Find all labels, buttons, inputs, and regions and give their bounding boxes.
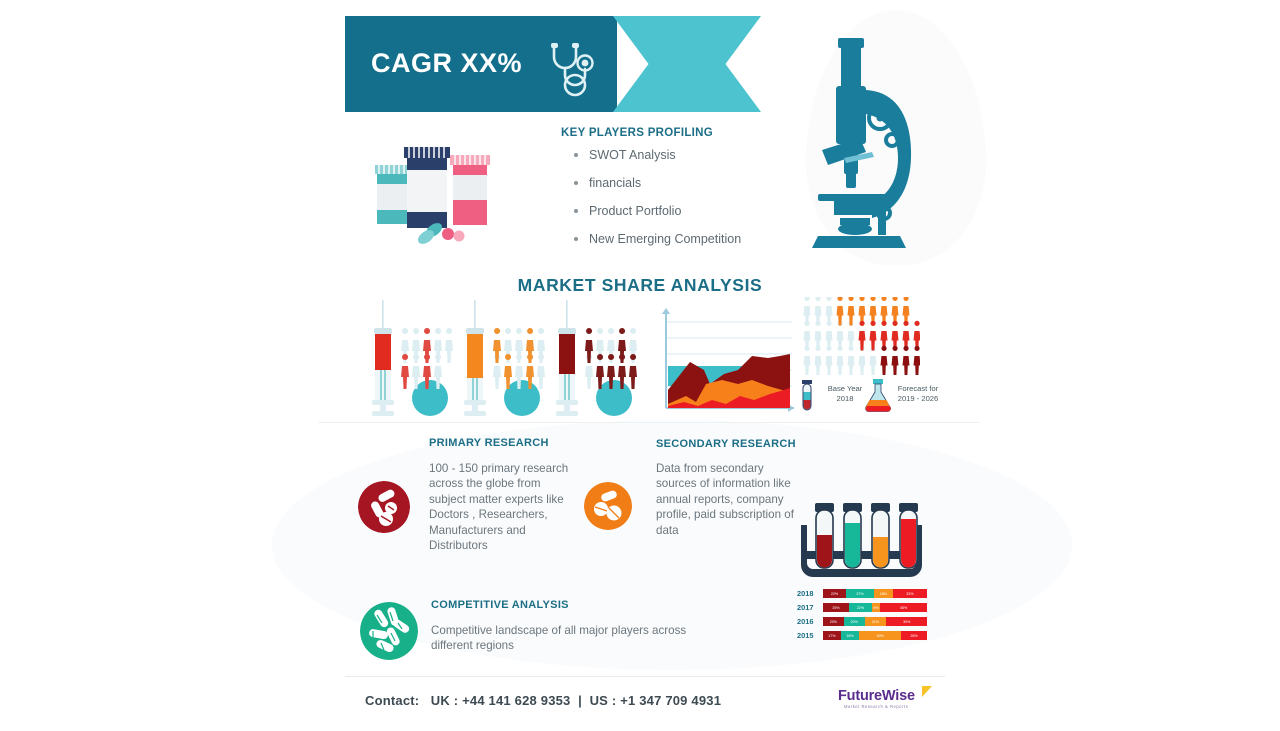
capsules-circle-icon [360, 602, 418, 660]
market-share-title: MARKET SHARE ANALYSIS [0, 275, 1280, 296]
syringe-icon [372, 300, 394, 416]
bar-year-label: 2015 [797, 630, 819, 641]
competitive-analysis-title: COMPETITIVE ANALYSIS [431, 599, 569, 611]
list-item: Product Portfolio [572, 204, 741, 218]
bar-segment: 22% [849, 603, 872, 612]
bar-segment: 20% [844, 617, 865, 626]
market-area-chart [652, 300, 797, 418]
pills-circle-icon [584, 482, 632, 530]
contact-separator: | [578, 693, 582, 708]
bar-segment: 18% [841, 631, 860, 640]
chart-legend: Base Year 2018 Forecast for 2019 - 2026 [797, 378, 947, 412]
bar-year-label: 2018 [797, 588, 819, 599]
table-row: 2015 17% 18% 40% 25% [797, 630, 927, 641]
logo-name: FutureWise [838, 688, 915, 704]
bar-segment: 39% [886, 617, 927, 626]
list-item: SWOT Analysis [572, 148, 741, 162]
people-pictogram-chart [800, 297, 920, 375]
infographic-canvas: CAGR XX% KEY PLAYERS PROFILING SWOT Anal… [0, 0, 1280, 731]
table-row: 2016 20% 20% 21% 39% [797, 616, 927, 627]
yearly-share-bar-chart: 2018 22% 27% 18% 33% 2017 25% 22% 8% 45%… [797, 588, 927, 640]
list-item: New Emerging Competition [572, 232, 741, 246]
syringe-icon [556, 300, 578, 416]
competitive-analysis-body: Competitive landscape of all major playe… [431, 623, 721, 654]
bar-segment: 22% [823, 589, 846, 598]
legend-base-year-line2: 2018 [816, 394, 874, 403]
primary-research-body: 100 - 150 primary research across the gl… [429, 461, 579, 553]
bar-year-label: 2017 [797, 602, 819, 613]
syringe-icon [464, 300, 486, 416]
bar-track: 22% 27% 18% 33% [823, 589, 927, 598]
logo-flag-icon [922, 686, 932, 697]
stethoscope-icon [543, 38, 605, 100]
bar-track: 17% 18% 40% 25% [823, 631, 927, 640]
logo-tagline: Market Research & Reports [844, 704, 908, 709]
bar-segment: 27% [846, 589, 874, 598]
bar-segment: 40% [859, 631, 901, 640]
bar-segment: 25% [901, 631, 927, 640]
footer-divider [345, 676, 945, 677]
bar-year-label: 2016 [797, 616, 819, 627]
secondary-research-body: Data from secondary sources of informati… [656, 461, 801, 538]
cagr-label: CAGR XX% [371, 48, 522, 79]
primary-research-title: PRIMARY RESEARCH [429, 437, 549, 449]
key-players-list: SWOT Analysis financials Product Portfol… [572, 148, 741, 260]
legend-forecast-line2: 2019 - 2026 [890, 394, 946, 403]
test-tube-icon [802, 380, 812, 410]
bar-segment: 20% [823, 617, 844, 626]
legend-base-year-line1: Base Year [816, 384, 874, 393]
bar-segment: 45% [880, 603, 927, 612]
bar-segment: 8% [872, 603, 880, 612]
bar-segment: 18% [874, 589, 893, 598]
contact-label: Contact: [365, 693, 419, 708]
syringe-people-chart [358, 300, 658, 418]
contact-line: Contact: UK : +44 141 628 9353 | US : +1… [365, 693, 721, 708]
bar-segment: 17% [823, 631, 841, 640]
table-row: 2018 22% 27% 18% 33% [797, 588, 927, 599]
bar-track: 20% 20% 21% 39% [823, 617, 927, 626]
section-divider [318, 422, 980, 423]
bar-segment: 33% [893, 589, 927, 598]
bar-segment: 21% [865, 617, 887, 626]
pills-circle-icon [358, 481, 410, 533]
banner-light-panel [613, 16, 761, 112]
cagr-banner: CAGR XX% [345, 16, 761, 112]
bar-track: 25% 22% 8% 45% [823, 603, 927, 612]
futurewise-logo[interactable]: FutureWise Market Research & Reports [838, 688, 932, 714]
list-item: financials [572, 176, 741, 190]
key-players-title: KEY PLAYERS PROFILING [561, 127, 713, 139]
legend-forecast-line1: Forecast for [890, 384, 946, 393]
secondary-research-title: SECONDARY RESEARCH [656, 438, 796, 450]
contact-us[interactable]: US : +1 347 709 4931 [590, 693, 722, 708]
pill-bottles-icon [362, 138, 502, 253]
microscope-icon [808, 22, 920, 257]
test-tube-rack-icon [795, 495, 928, 580]
bar-segment: 25% [823, 603, 849, 612]
table-row: 2017 25% 22% 8% 45% [797, 602, 927, 613]
contact-uk[interactable]: UK : +44 141 628 9353 [431, 693, 571, 708]
